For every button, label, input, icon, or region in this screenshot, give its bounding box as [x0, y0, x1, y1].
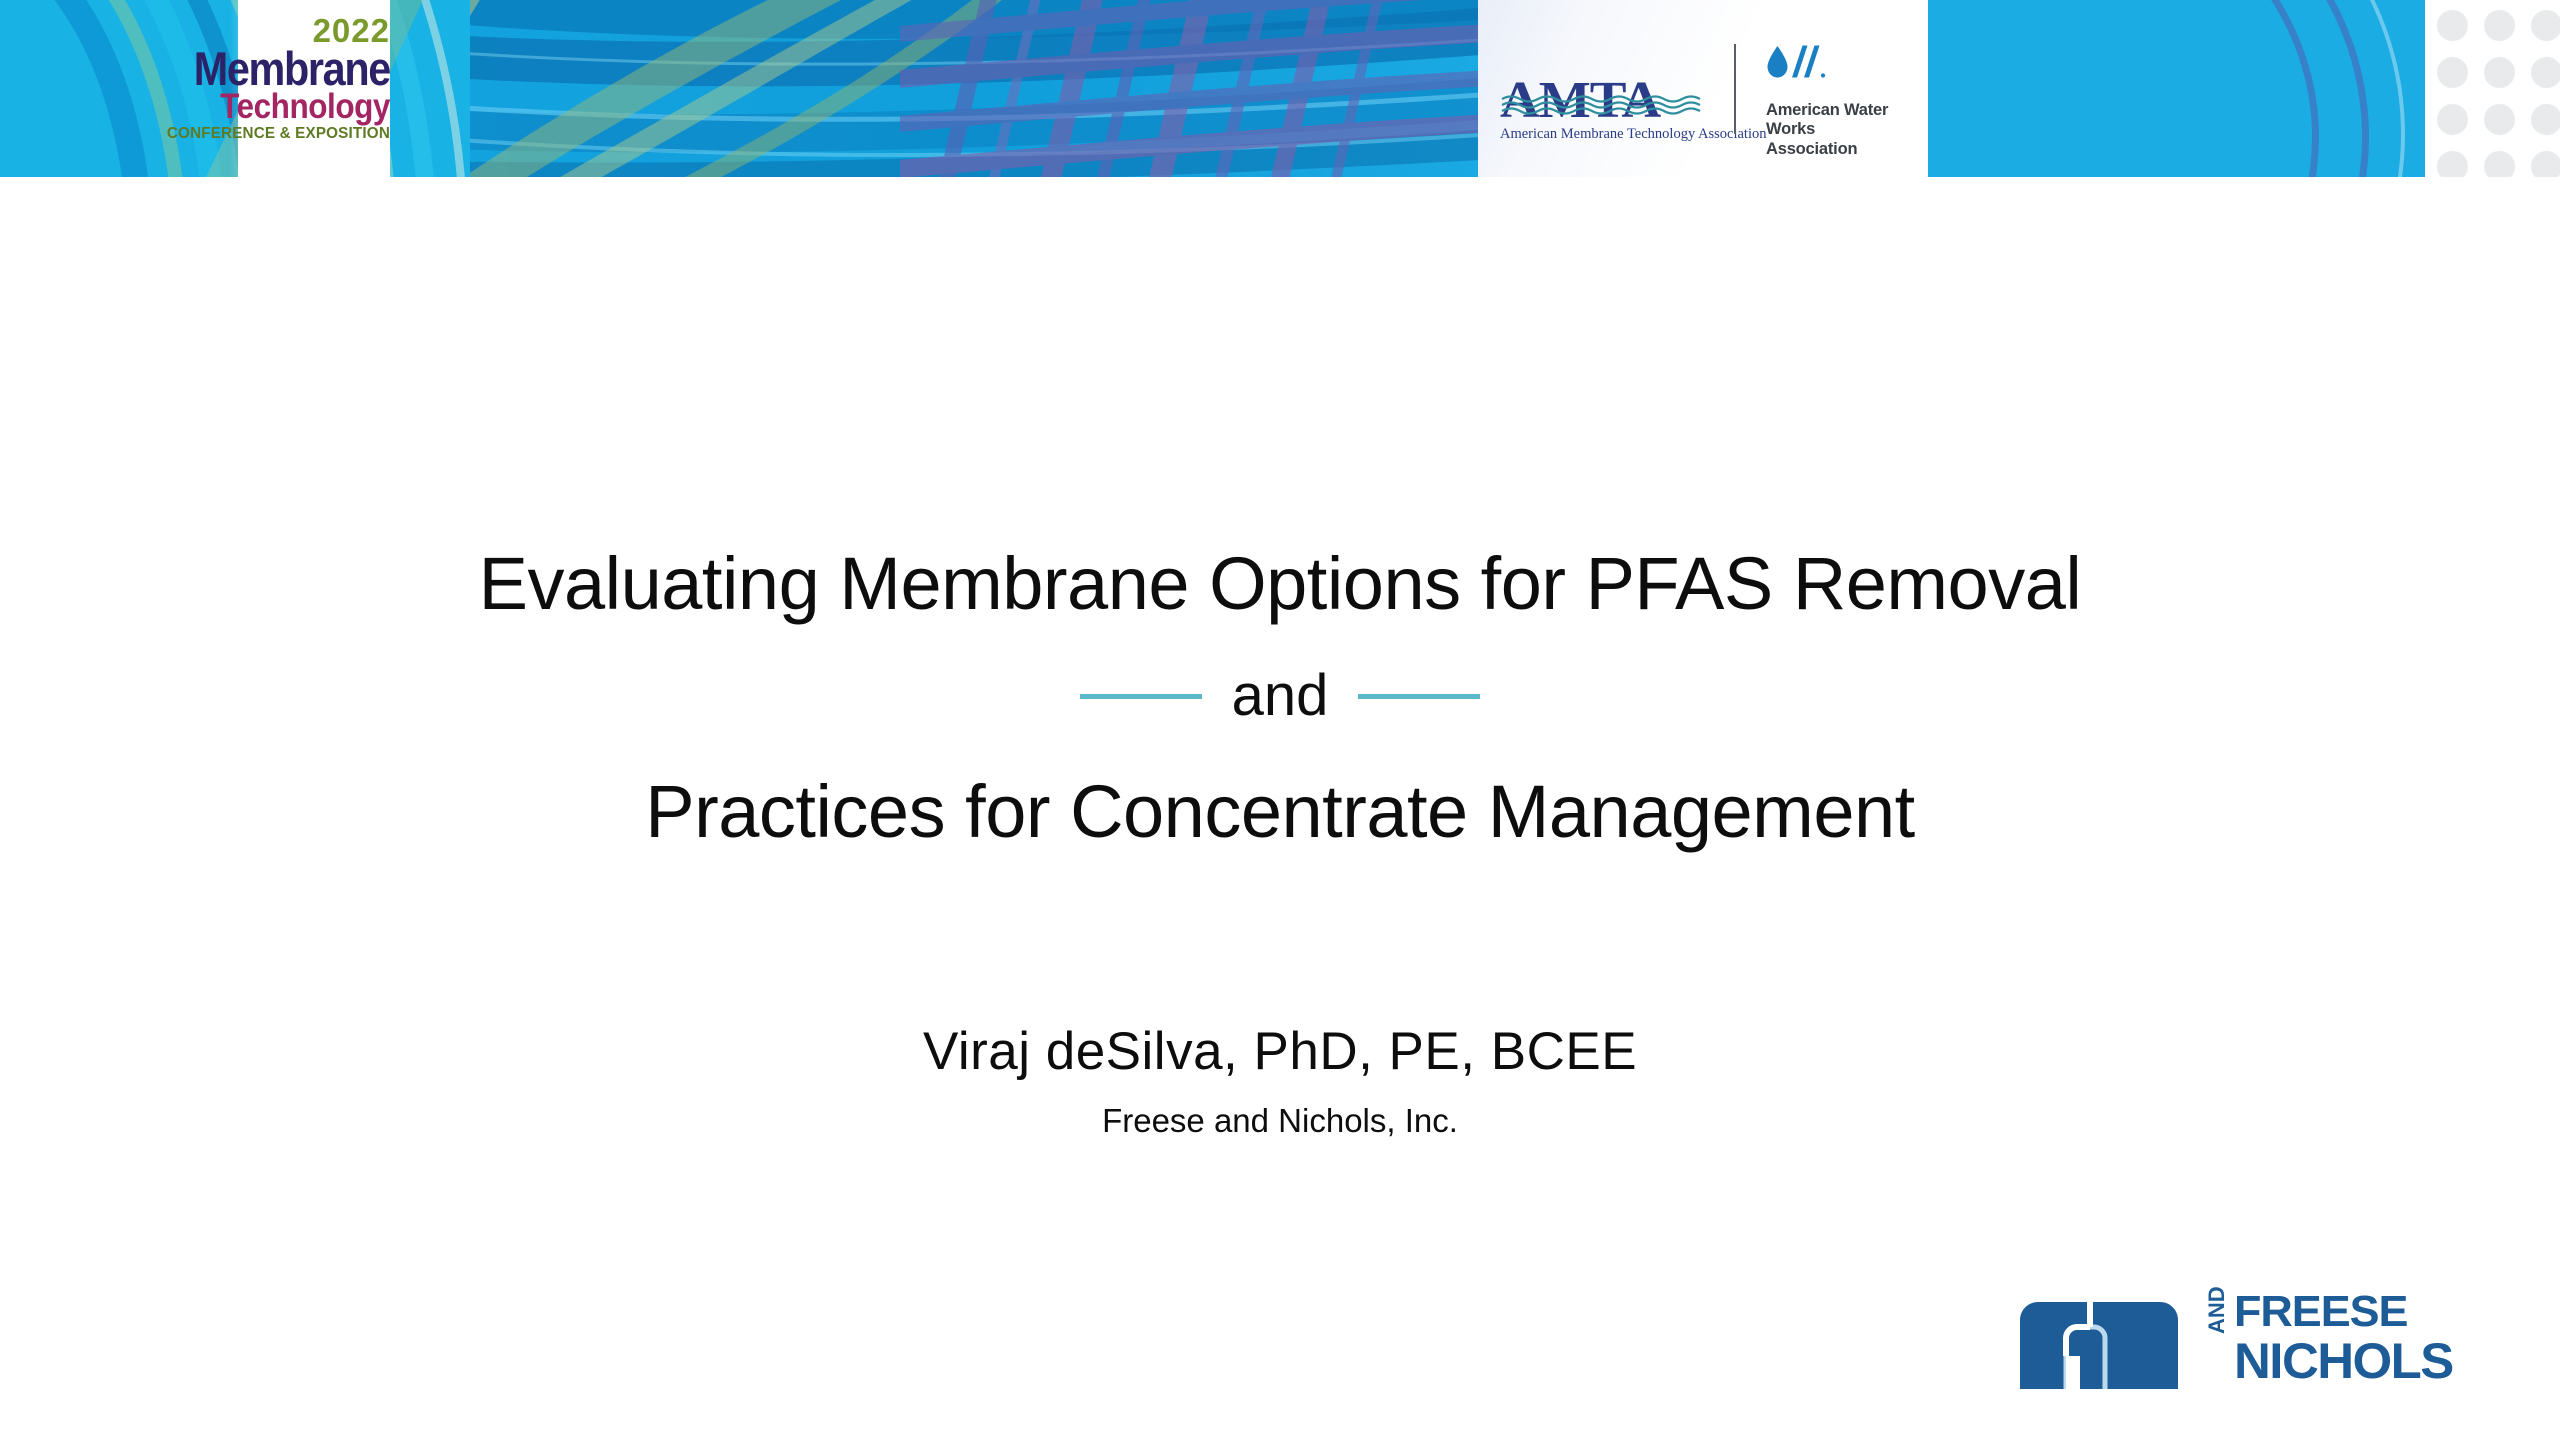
amta-wordmark: AMTA	[1500, 78, 1712, 125]
freese-nichols-connector: AND	[2206, 1286, 2228, 1334]
freese-nichols-wordmark: AND FREESE NICHOLS	[2204, 1288, 2524, 1396]
presentation-slide: 2022 Membrane Technology CONFERENCE & EX…	[0, 0, 2560, 1440]
conference-name-technology: Technology	[174, 89, 390, 124]
freese-nichols-word-2: NICHOLS	[2234, 1336, 2453, 1386]
cyan-disc-graphic	[1925, 0, 2425, 177]
awwa-waterdrop-icon	[1766, 42, 1828, 90]
header-banner: 2022 Membrane Technology CONFERENCE & EX…	[0, 0, 2560, 177]
conference-tagline: CONFERENCE & EXPOSITION	[162, 126, 390, 142]
slide-title-line-1: Evaluating Membrane Options for PFAS Rem…	[0, 541, 2560, 626]
presenter-organization: Freese and Nichols, Inc.	[0, 1102, 2560, 1140]
slide-title-line-2: Practices for Concentrate Management	[0, 769, 2560, 854]
slide-body: Evaluating Membrane Options for PFAS Rem…	[0, 177, 2560, 1440]
amta-logo: AMTA American Membrane Technology Associ…	[1500, 78, 1730, 143]
freese-nichols-word-1: FREESE	[2234, 1290, 2407, 1334]
conference-name-membrane: Membrane	[179, 45, 390, 92]
logo-divider	[1734, 44, 1736, 134]
decorative-rule-right	[1358, 694, 1480, 699]
awwa-name: American Water Works Association	[1766, 101, 1926, 159]
freese-nichols-monogram-icon	[2008, 1294, 2190, 1389]
amta-wave-lines	[1500, 94, 1715, 118]
presenter-name: Viraj deSilva, PhD, PE, BCEE	[0, 1021, 2560, 1082]
association-logo-lockup: AMTA American Membrane Technology Associ…	[1478, 0, 1928, 177]
membrane-technology-conference-logo: 2022 Membrane Technology CONFERENCE & EX…	[150, 14, 390, 169]
title-conjunction-row: and	[0, 667, 2560, 725]
freese-nichols-logo: AND FREESE NICHOLS	[2008, 1288, 2518, 1396]
decorative-rule-left	[1080, 694, 1202, 699]
awwa-logo: American Water Works Association	[1766, 42, 1926, 159]
title-conjunction: and	[1232, 667, 1329, 725]
